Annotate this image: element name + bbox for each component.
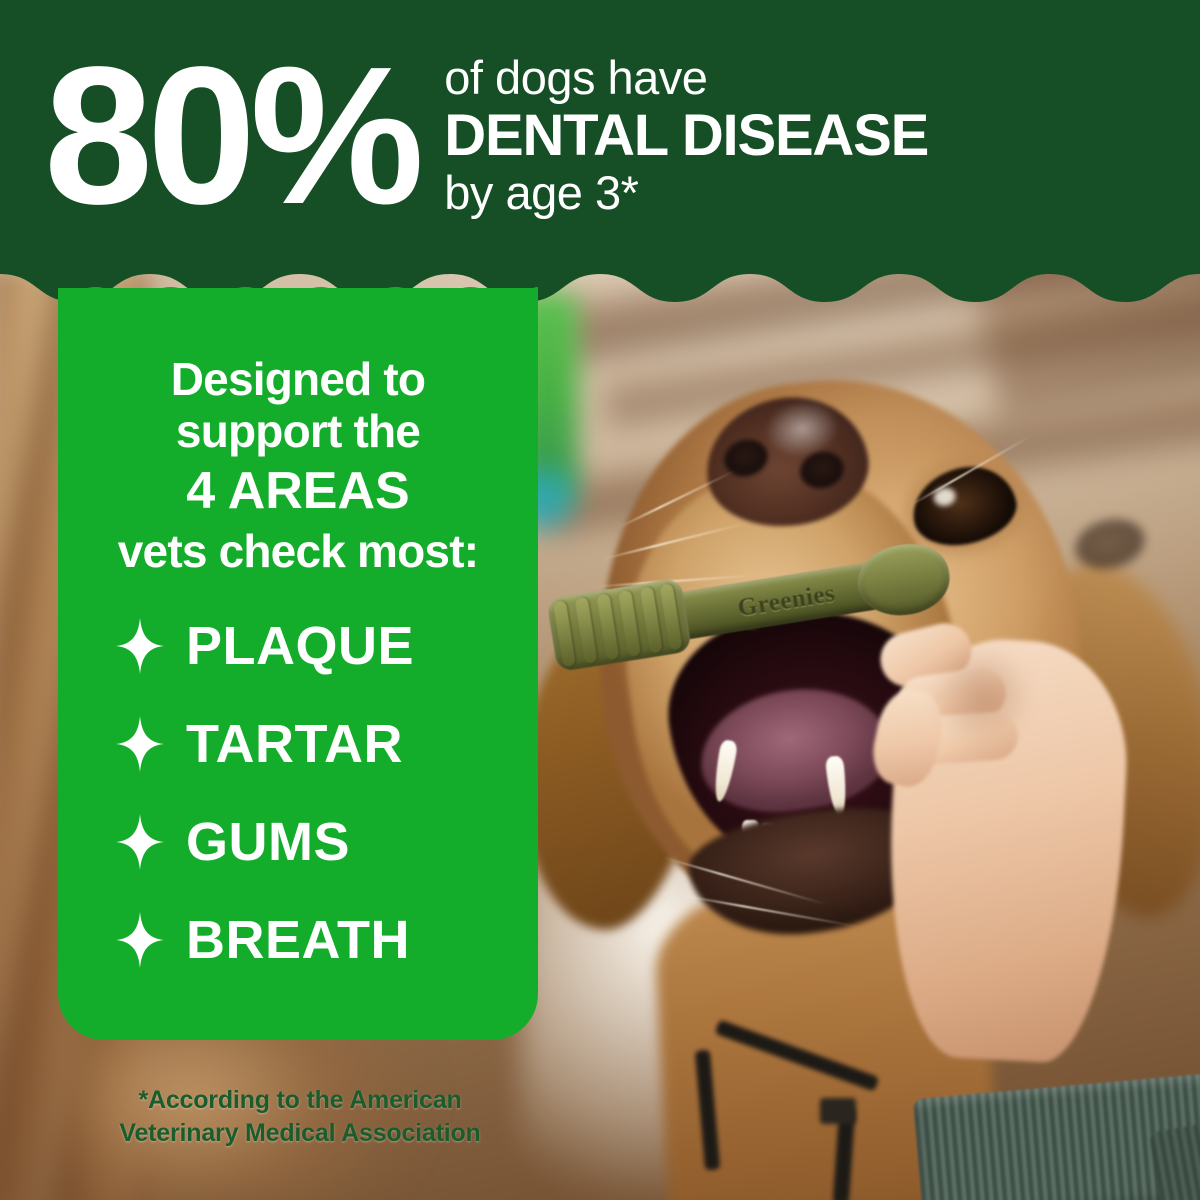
- list-item: TARTAR: [116, 716, 538, 772]
- benefits-list: PLAQUE TARTAR GUMS BREATH: [58, 618, 538, 968]
- list-item-label: TARTAR: [186, 717, 403, 771]
- sparkle-icon: [116, 618, 164, 674]
- stat-percentage: 80%: [44, 50, 418, 222]
- list-item: BREATH: [116, 912, 538, 968]
- chew-bristle: [618, 590, 641, 657]
- footnote-line-1: *According to the American: [40, 1084, 560, 1117]
- list-item-label: GUMS: [186, 815, 350, 869]
- list-item: GUMS: [116, 814, 538, 870]
- chew-bristle: [659, 583, 682, 650]
- card-headline-emphasis: 4 AREAS: [80, 458, 516, 526]
- chew-bristle: [575, 597, 598, 664]
- stat-line-3: by age 3*: [444, 167, 928, 219]
- chew-bristle: [640, 586, 663, 653]
- list-item: PLAQUE: [116, 618, 538, 674]
- list-item-label: PLAQUE: [186, 619, 414, 673]
- advertisement-canvas: Greenies 80% of dogs have DENTAL DISEASE…: [0, 0, 1200, 1200]
- stat-line-1: of dogs have: [444, 53, 928, 104]
- chew-brush-head: [546, 578, 692, 672]
- sparkle-icon: [116, 912, 164, 968]
- hand-shading: [934, 648, 1054, 766]
- chew-bristle: [596, 593, 619, 660]
- sparkle-icon: [116, 716, 164, 772]
- card-headline: Designed to support the 4 AREAS vets che…: [58, 354, 538, 578]
- header-banner: 80% of dogs have DENTAL DISEASE by age 3…: [0, 0, 1200, 312]
- chew-bristle: [553, 600, 576, 667]
- card-top-wave-shape: [58, 287, 538, 321]
- card-headline-line-1: Designed to: [80, 354, 516, 406]
- stat-text-block: of dogs have DENTAL DISEASE by age 3*: [444, 53, 928, 219]
- footnote: *According to the American Veterinary Me…: [40, 1084, 560, 1150]
- card-headline-line-2: support the: [80, 406, 516, 458]
- benefits-card: Designed to support the 4 AREAS vets che…: [58, 288, 538, 1040]
- card-headline-line-4: vets check most:: [80, 526, 516, 578]
- list-item-label: BREATH: [186, 913, 410, 967]
- dog-harness-buckle: [820, 1098, 856, 1124]
- sparkle-icon: [116, 814, 164, 870]
- header-content: 80% of dogs have DENTAL DISEASE by age 3…: [0, 0, 1200, 272]
- footnote-line-2: Veterinary Medical Association: [40, 1117, 560, 1150]
- stat-line-2: DENTAL DISEASE: [444, 104, 928, 168]
